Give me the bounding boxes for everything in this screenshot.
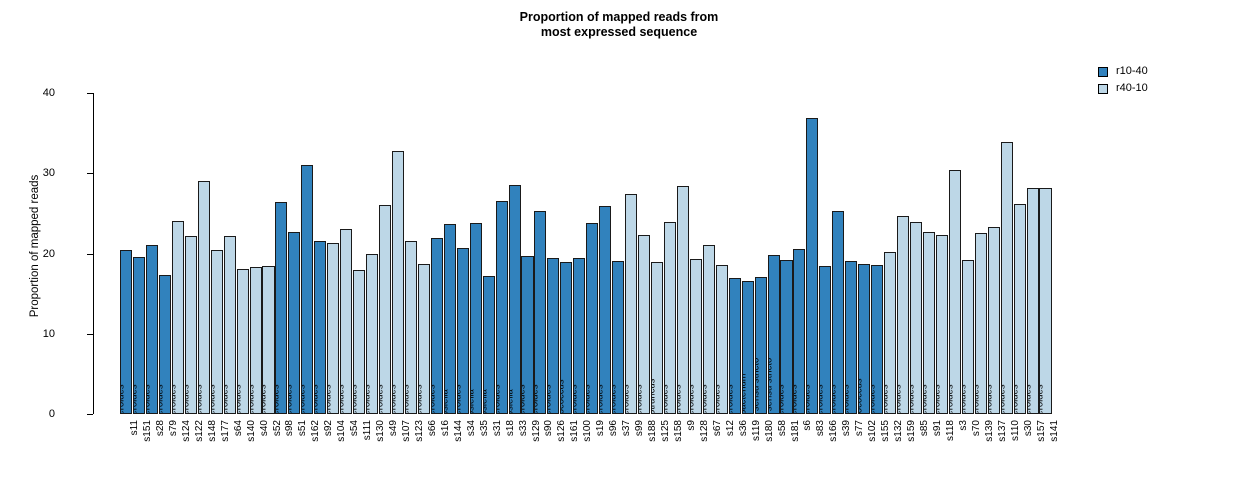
x-axis-tick-label-s9: s9 [687,420,697,431]
x-axis-tick-label-s123: s123 [415,420,425,442]
bar-s107[interactable]: Bacteroides [392,151,404,414]
bar-genus-label: Bacteroides [418,384,424,414]
bar-s77[interactable]: Bacteroides [845,261,857,414]
bar-genus-label: Bacteroides [819,384,825,414]
bar-genus-label: Bacteroides [793,384,799,414]
bar-s140[interactable]: Bacteroides [237,269,249,414]
x-axis-tick-label-s188: s188 [648,420,658,442]
bar-s33[interactable]: Klebsiella [509,185,521,415]
x-axis-tick-label-s166: s166 [829,420,839,442]
bar-s128[interactable]: Bacteroides [690,259,702,414]
x-axis-tick-label-s129: s129 [532,420,542,442]
x-axis-tick-label-s77: s77 [855,420,865,436]
bar-genus-label: Bacteroides [573,384,579,414]
x-axis-tick-label-s6: s6 [803,420,813,431]
bar-s54[interactable]: Bacteroides [340,229,352,414]
bar-genus-label: Bacteroides [664,384,670,414]
bar-genus-label: Bacteroides [237,384,243,414]
x-axis-tick-label-s144: s144 [454,420,464,442]
x-axis-tick-label-s137: s137 [998,420,1008,442]
bar-genus-label: Bacteroides [1039,384,1045,414]
bar-s35[interactable]: Klebsiella [470,223,482,414]
bar-genus-label: Klebsiella [444,389,450,414]
bar-genus-label: Bacteroides [353,384,359,414]
x-axis-tick-label-s99: s99 [635,420,645,436]
bar-genus-label: Bacteroides [288,384,294,414]
bar-genus-label: Bacteroides [625,384,631,414]
bar-genus-label: Streptococcus [560,379,566,414]
bar-s67[interactable]: Bacteroides [703,245,715,414]
x-axis-tick-label-s118: s118 [946,420,956,441]
bar-s141[interactable]: Bacteroides [1039,188,1051,414]
bar-s139[interactable]: Bacteroides [975,233,987,414]
bar-genus-label: Bacteroides [703,384,709,414]
bar-s18[interactable]: Bacteroides [496,201,508,414]
bar-genus-label: Bacteroides [211,384,217,414]
bar-genus-label: Bacteroides [729,384,735,414]
bar-genus-label: Bacteroides [496,384,502,414]
bar-genus-label: Ruminococcus [858,378,864,414]
bar-s125[interactable]: Anaerotruncus [651,262,663,414]
bar-s16[interactable]: Bacteroides [431,238,443,414]
bar-genus-label: Clostridium sensu stricto [768,357,774,414]
bar-genus-label: Bacteroides [936,384,942,414]
bar-genus-label: Bacteroides [431,384,437,414]
x-axis-tick-label-s36: s36 [739,420,749,436]
x-axis-tick-label-s90: s90 [544,420,554,436]
bar-s85[interactable]: Bacteroides [910,222,922,414]
x-axis-tick-label-s33: s33 [519,420,529,436]
x-axis-tick-label-s132: s132 [894,420,904,442]
bar-s49[interactable]: Bacteroides [379,205,391,414]
bar-s132[interactable]: Bacteroides [884,252,896,414]
bar-genus-label: Bacteroides [612,384,618,414]
x-axis-tick-label-s34: s34 [467,420,477,436]
bar-genus-label: Bacteroides [845,384,851,414]
x-axis-tick-label-s158: s158 [674,420,684,442]
x-axis-tick-label-s130: s130 [376,420,386,442]
bar-genus-label: Bacteroides [146,384,152,414]
bar-genus-label: Bacteroides [314,384,320,414]
bar-s70[interactable]: Bacteroides [962,260,974,414]
x-axis-tick-label-s124: s124 [182,420,192,442]
bar-s37[interactable]: Bacteroides [612,261,624,414]
bar-s119[interactable]: Faecalibacterium [742,281,754,414]
x-axis-tick-label-s3: s3 [959,420,969,431]
bar-s111[interactable]: Bacteroides [353,270,365,414]
bar-genus-label: Bacteroides [962,384,968,414]
bar-s102[interactable]: Ruminococcus [858,264,870,414]
bar-genus-label: Bacteroides [871,384,877,414]
x-axis-tick-label-s177: s177 [221,420,231,442]
x-axis-tick-label-s159: s159 [907,420,917,442]
bar-genus-label: Bacteroides [275,384,281,414]
bar-genus-label: Bacteroides [547,384,553,414]
x-axis-tick-label-s12: s12 [726,420,736,436]
bar-genus-label: Bacteroides [1001,384,1007,414]
chart-canvas: Proportion of mapped reads from most exp… [0,0,1238,500]
x-axis-tick-label-s157: s157 [1037,420,1047,442]
bar-genus-label: Bacteroides [133,384,139,414]
bar-genus-label: Bacteroides [923,384,929,414]
bar-s162[interactable]: Bacteroides [301,165,313,414]
bar-s177[interactable]: Bacteroides [211,250,223,414]
x-axis-tick-label-s49: s49 [389,420,399,436]
bar-s188[interactable]: Bacteroides [638,235,650,414]
bar-s11[interactable]: Bacteroides [120,250,132,415]
bar-s64[interactable]: Bacteroides [224,236,236,414]
bar-s110[interactable]: Bacteroides [1001,142,1013,414]
bar-s52[interactable]: Bacteroides [262,266,274,414]
bar-s90[interactable]: Bacteroides [534,211,546,414]
bar-genus-label: Bacteroides [250,384,256,414]
bar-genus-label: Bacteroides [690,384,696,414]
bar-genus-label: Bacteroides [884,384,890,414]
x-axis-tick-label-s98: s98 [285,420,295,436]
bar-s122[interactable]: Bacteroides [185,236,197,414]
bar-s40[interactable]: Bacteroides [250,267,262,414]
bar-s158[interactable]: Bacteroides [664,222,676,414]
bar-genus-label: Bacteroides [599,384,605,414]
x-axis-tick-label-s110: s110 [1011,420,1021,441]
x-axis-tick-label-s37: s37 [622,420,632,436]
bar-s9[interactable]: Bacteroides [677,186,689,414]
x-axis-tick-label-s155: s155 [881,420,891,442]
bar-genus-label: Clostridium sensu stricto [755,357,761,414]
bar-genus-label: Bacteroides [224,384,230,414]
bar-genus-label: Bacteroides [677,384,683,414]
bar-s129[interactable]: Bacteroides [521,256,533,414]
bar-genus-label: Bacteroides [301,384,307,414]
bar-genus-label: Bacteroides [379,384,385,414]
bar-s6[interactable]: Bacteroides [793,249,805,414]
bar-genus-label: Bacteroides [405,384,411,414]
bar-s130[interactable]: Bacteroides [366,254,378,414]
x-axis-tick-label-s100: s100 [583,420,593,442]
bar-genus-label: Bacteroides [832,384,838,414]
bar-genus-label: Bacteroides [1027,384,1033,414]
bar-s36[interactable]: Bacteroides [729,278,741,414]
bar-s144[interactable]: Klebsiella [444,224,456,414]
x-axis-tick-label-s139: s139 [985,420,995,442]
bar-genus-label: Bacteroides [521,384,527,414]
x-axis-tick-label-s111: s111 [363,420,373,440]
x-axis-tick-label-s66: s66 [428,420,438,436]
bar-s58[interactable]: Clostridium sensu stricto [768,255,780,414]
bar-genus-label: Bacteroides [159,384,165,414]
bar-genus-label: Bacteroides [780,384,786,414]
x-axis-tick-label-s85: s85 [920,420,930,436]
x-axis-tick-label-s52: s52 [273,420,283,436]
bar-genus-label: Bacteroides [340,384,346,414]
x-axis-tick-label-s128: s128 [700,420,710,442]
bar-s66[interactable]: Bacteroides [418,264,430,414]
bar-s98[interactable]: Bacteroides [275,202,287,414]
x-axis-tick-label-s125: s125 [661,420,671,442]
bar-s92[interactable]: Bacteroides [314,241,326,414]
bar-s39[interactable]: Bacteroides [832,211,844,414]
bar-s12[interactable]: Bacteroides [716,265,728,414]
bar-genus-label: Bacteroides [716,384,722,414]
bar-genus-label: Bacteroides [638,384,644,414]
bar-s91[interactable]: Bacteroides [923,232,935,414]
bar-s161[interactable]: Streptococcus [560,262,572,414]
x-axis-tick-label-s79: s79 [169,420,179,436]
x-axis-tick-label-s161: s161 [570,420,580,442]
x-axis-tick-label-s126: s126 [557,420,567,442]
x-axis-tick-label-s151: s151 [143,420,153,442]
x-axis-tick-label-s92: s92 [324,420,334,436]
x-axis-tick-label-s140: s140 [247,420,257,442]
bar-s166[interactable]: Bacteroides [819,266,831,414]
x-axis-tick-label-s51: s51 [298,420,308,436]
x-axis-tick-label-s83: s83 [816,420,826,436]
bar-s99[interactable]: Bacteroides [625,194,637,414]
x-axis-tick-label-s19: s19 [596,420,606,436]
bar-s51[interactable]: Bacteroides [288,232,300,414]
bar-genus-label: Faecalibacterium [742,373,748,414]
x-axis-tick-label-s107: s107 [402,420,412,442]
bar-genus-label: Bacteroides [366,384,372,414]
bar-genus-label: Bacteroides [949,384,955,414]
x-axis-tick-label-s67: s67 [713,420,723,436]
bar-genus-label: Bacteroides [806,384,812,414]
x-axis-tick-label-s28: s28 [156,420,166,436]
x-axis-tick-label-s96: s96 [609,420,619,436]
bar-s83[interactable]: Bacteroides [806,118,818,414]
bar-s181[interactable]: Bacteroides [780,260,792,414]
bar-s126[interactable]: Bacteroides [547,258,559,414]
bar-s157[interactable]: Bacteroides [1027,188,1039,414]
bar-s137[interactable]: Bacteroides [988,227,1000,414]
bar-s31[interactable]: Klebsiella [483,276,495,414]
x-axis-tick-label-s35: s35 [480,420,490,436]
bar-s19[interactable]: Bacteroides [586,223,598,414]
bar-s104[interactable]: Bacteroides [327,243,339,414]
x-axis-tick-label-s122: s122 [195,420,205,442]
bar-s28[interactable]: Bacteroides [146,245,158,414]
bar-s155[interactable]: Bacteroides [871,265,883,414]
x-axis-tick-label-s119: s119 [752,420,762,441]
bar-s124[interactable]: Bacteroides [172,221,184,414]
x-axis-tick-label-s16: s16 [441,420,451,436]
bar-s151[interactable]: Bacteroides [133,257,145,414]
bar-genus-label: Bacteroides [586,384,592,414]
x-axis-tick-label-s181: s181 [791,420,801,442]
bar-genus-label: Klebsiella [509,389,515,414]
x-axis-tick-label-s162: s162 [311,420,321,442]
x-axis-tick-label-s18: s18 [506,420,516,436]
bar-s180[interactable]: Clostridium sensu stricto [755,277,767,414]
x-axis-tick-label-s31: s31 [493,420,503,436]
bar-genus-label: Bacteroides [910,384,916,414]
bar-s123[interactable]: Bacteroides [405,241,417,414]
x-axis-tick-label-s180: s180 [765,420,775,442]
x-axis-tick-label-s58: s58 [778,420,788,436]
bar-genus-label: Bacteroides [534,384,540,414]
bar-genus-label: Bacteroides [1014,384,1020,414]
x-axis-tick-label-s11: s11 [130,420,140,435]
bar-s96[interactable]: Bacteroides [599,206,611,414]
bar-genus-label: Bacteroides [185,384,191,414]
bar-genus-label: Bacteroides [975,384,981,414]
x-axis-tick-label-s91: s91 [933,420,943,436]
x-axis-tick-label-s70: s70 [972,420,982,436]
bar-genus-label: Bacteroides [897,384,903,414]
bar-genus-label: Bacteroides [198,384,204,414]
bar-genus-label: Bacteroides [262,384,268,414]
bar-s34[interactable]: Bacteroides [457,248,469,414]
x-axis-tick-label-s64: s64 [234,420,244,436]
bar-s79[interactable]: Bacteroides [159,275,171,414]
x-axis-tick-label-s102: s102 [868,420,878,442]
x-axis-tick-label-s40: s40 [260,420,270,436]
x-axis-tick-label-s39: s39 [842,420,852,436]
bar-genus-label: Anaerotruncus [651,378,657,414]
x-axis-tick-label-s148: s148 [208,420,218,442]
x-axis-tick-label-s54: s54 [350,420,360,436]
bar-s100[interactable]: Bacteroides [573,258,585,414]
bar-genus-label: Bacteroides [457,384,463,414]
x-axis-tick-label-s141: s141 [1050,420,1060,442]
bar-s3[interactable]: Bacteroides [949,170,961,414]
bar-genus-label: Bacteroides [327,384,333,414]
bar-genus-label: Bacteroides [988,384,994,414]
x-axis-tick-label-s30: s30 [1024,420,1034,436]
bar-genus-label: Bacteroides [172,384,178,414]
bar-genus-label: Klebsiella [483,389,489,414]
bar-s30[interactable]: Bacteroides [1014,204,1026,414]
bar-genus-label: Bacteroides [392,384,398,414]
bar-genus-label: Bacteroides [120,384,126,414]
bar-s159[interactable]: Bacteroides [897,216,909,414]
bar-s148[interactable]: Bacteroides [198,181,210,414]
bar-genus-label: Klebsiella [470,389,476,414]
x-axis-tick-label-s104: s104 [337,420,347,442]
bar-s118[interactable]: Bacteroides [936,235,948,414]
